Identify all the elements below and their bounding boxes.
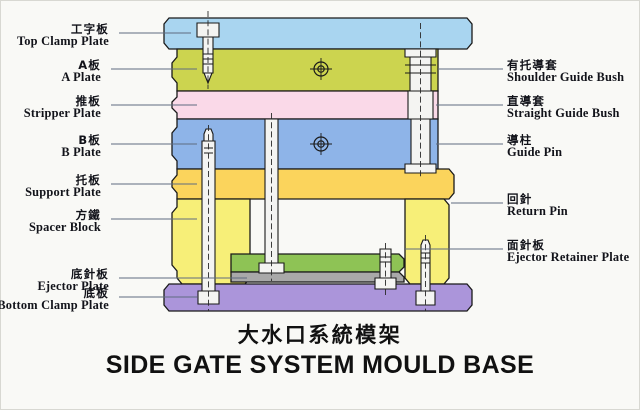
label-support-plate: 托板 Support Plate [25,174,101,199]
label-guide-pin: 導柱 Guide Pin [507,134,562,159]
label-straight-guide-bush-en: Straight Guide Bush [507,107,620,120]
label-return-pin: 回針 Return Pin [507,193,568,218]
page-title: 大水口系統模架 SIDE GATE SYSTEM MOULD BASE [1,319,639,380]
page-title-en: SIDE GATE SYSTEM MOULD BASE [1,351,639,380]
label-bottom-clamp-plate: 底板 Bottom Clamp Plate [0,287,109,312]
label-a-plate-en: A Plate [61,71,101,84]
label-stripper-plate-en: Stripper Plate [24,107,101,120]
label-a-plate: A板 A Plate [61,59,101,84]
label-spacer-block-en: Spacer Block [29,221,101,234]
label-shoulder-guide-bush: 有托導套 Shoulder Guide Bush [507,59,624,84]
diagram-page: .pl{stroke:#1a1a1a;stroke-width:1.3;} .m… [0,0,640,410]
label-straight-guide-bush: 直導套 Straight Guide Bush [507,95,620,120]
label-support-plate-en: Support Plate [25,186,101,199]
page-title-cn: 大水口系統模架 [1,319,639,349]
label-guide-pin-en: Guide Pin [507,146,562,159]
label-top-clamp-plate-en: Top Clamp Plate [17,35,109,48]
label-b-plate-en: B Plate [61,146,101,159]
label-bottom-clamp-plate-en: Bottom Clamp Plate [0,299,109,312]
label-shoulder-guide-bush-en: Shoulder Guide Bush [507,71,624,84]
label-return-pin-en: Return Pin [507,205,568,218]
label-b-plate: B板 B Plate [61,134,101,159]
label-ejector-retainer-plate-en: Ejector Retainer Plate [507,251,629,264]
plate-ejector-retainer-plate [231,254,404,272]
plate-stripper-plate [172,91,438,119]
label-spacer-block: 方鐵 Spacer Block [29,209,101,234]
diagram-stage: .pl{stroke:#1a1a1a;stroke-width:1.3;} .m… [1,1,639,409]
label-top-clamp-plate: 工字板 Top Clamp Plate [17,23,109,48]
label-stripper-plate: 推板 Stripper Plate [24,95,101,120]
label-ejector-retainer-plate: 面針板 Ejector Retainer Plate [507,239,629,264]
